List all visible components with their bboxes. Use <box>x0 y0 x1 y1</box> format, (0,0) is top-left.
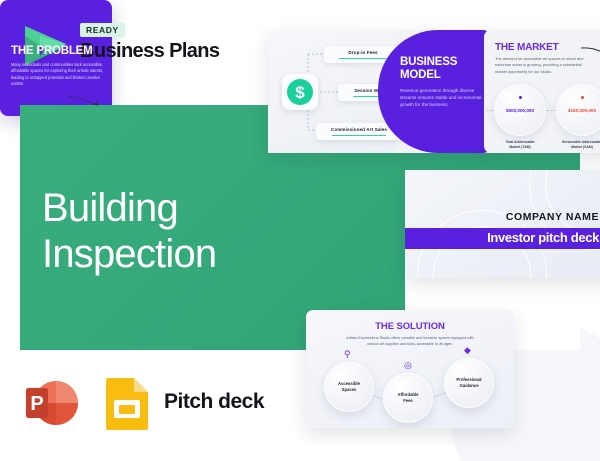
solution-heading: THE SOLUTION <box>306 321 514 332</box>
page-title-line-1: Building <box>42 186 302 232</box>
item-label-line-2: Guidance <box>456 383 481 389</box>
problem-heading: THE PROBLEM <box>11 45 93 57</box>
heading-line-1: BUSINESS <box>400 56 482 69</box>
dollar-glyph: $ <box>287 79 313 105</box>
brand-logo-text: READY Business Plans <box>80 20 219 61</box>
dashed-arrow-icon <box>68 94 102 108</box>
item-label-line-2: Spaces <box>338 387 360 393</box>
market-stat-circle-sam[interactable]: $150,000,000 <box>556 84 600 136</box>
caption-line-2: Market (SAM) <box>551 145 600 150</box>
page-title-line-2: Inspection <box>42 232 302 278</box>
node-label: Commissioned Art Sales <box>331 127 387 132</box>
business-model-diagram-panel: $ Drop-in Fees Session Workshops Commiss… <box>268 30 396 153</box>
solution-item-professional-guidance[interactable]: Professional Guidance <box>444 358 494 408</box>
ready-badge: READY <box>80 23 125 37</box>
node-label: Drop-in Fees <box>348 50 377 55</box>
market-stat-value-tam: $500,000,000 <box>494 108 546 113</box>
item-label: Professional Guidance <box>456 377 481 389</box>
heading-line-2: MODEL <box>400 69 482 82</box>
solution-body: Artistic Expressions Studio offers versa… <box>346 336 474 348</box>
market-heading: THE MARKET <box>495 42 559 53</box>
item-label-line-2: Fees <box>398 398 419 404</box>
item-label: Accessible Spaces <box>338 381 360 393</box>
solution-item-accessible-spaces[interactable]: Accessible Spaces <box>324 362 374 412</box>
item-label: Affordable Fees <box>398 392 419 404</box>
problem-body: Many individuals and communities lack ac… <box>11 62 107 87</box>
investor-subtitle: Investor pitch deck <box>487 230 599 245</box>
target-circle-icon: ◎ <box>404 361 412 370</box>
diamond-icon: ◆ <box>464 346 471 355</box>
google-slides-icon[interactable] <box>100 376 154 430</box>
company-name: COMPANY NAME <box>506 211 599 223</box>
curved-arrow-icon <box>580 44 600 70</box>
solution-item-affordable-fees[interactable]: Affordable Fees <box>383 373 433 423</box>
dollar-coin-icon: $ <box>282 74 318 110</box>
slide-card-market[interactable]: THE MARKET The demand for accessible art… <box>484 30 600 153</box>
node-underline <box>332 135 385 136</box>
market-stat-circle-tam[interactable]: $500,000,000 <box>494 84 546 136</box>
business-model-heading: BUSINESS MODEL <box>400 56 482 82</box>
slide-card-solution[interactable]: THE SOLUTION Artistic Expressions Studio… <box>306 310 514 428</box>
node-underline <box>339 58 387 59</box>
page-title: Building Inspection <box>42 186 302 277</box>
slide-card-investor-pitch-deck[interactable]: COMPANY NAME Investor pitch deck <box>405 170 600 278</box>
market-stat-caption-sam: Serviceable Addressable Market (SAM) <box>551 140 600 150</box>
slide-card-business-model[interactable]: $ Drop-in Fees Session Workshops Commiss… <box>268 30 490 153</box>
business-model-purple-panel: BUSINESS MODEL Revenue generation throug… <box>378 30 490 153</box>
pitch-deck-label: Pitch deck <box>164 390 264 414</box>
poster-canvas: READY Business Plans Building Inspection… <box>0 0 600 461</box>
svg-text:P: P <box>30 393 43 415</box>
market-stat-caption-tam: Total Addressable Market (TAM) <box>489 140 551 150</box>
brand-title: Business Plans <box>80 41 219 61</box>
stat-dot-sam <box>581 96 584 99</box>
stat-dot-tam <box>519 96 522 99</box>
format-row: P Pitch deck <box>24 372 284 434</box>
powerpoint-icon[interactable]: P <box>24 375 80 431</box>
caption-line-2: Market (TAM) <box>489 145 551 150</box>
location-pin-icon: ⚲ <box>344 350 351 359</box>
business-model-body: Revenue generation through diverse strea… <box>400 88 490 109</box>
market-body: The demand for accessible art spaces in … <box>495 56 591 75</box>
market-stat-value-sam: $150,000,000 <box>556 108 600 113</box>
